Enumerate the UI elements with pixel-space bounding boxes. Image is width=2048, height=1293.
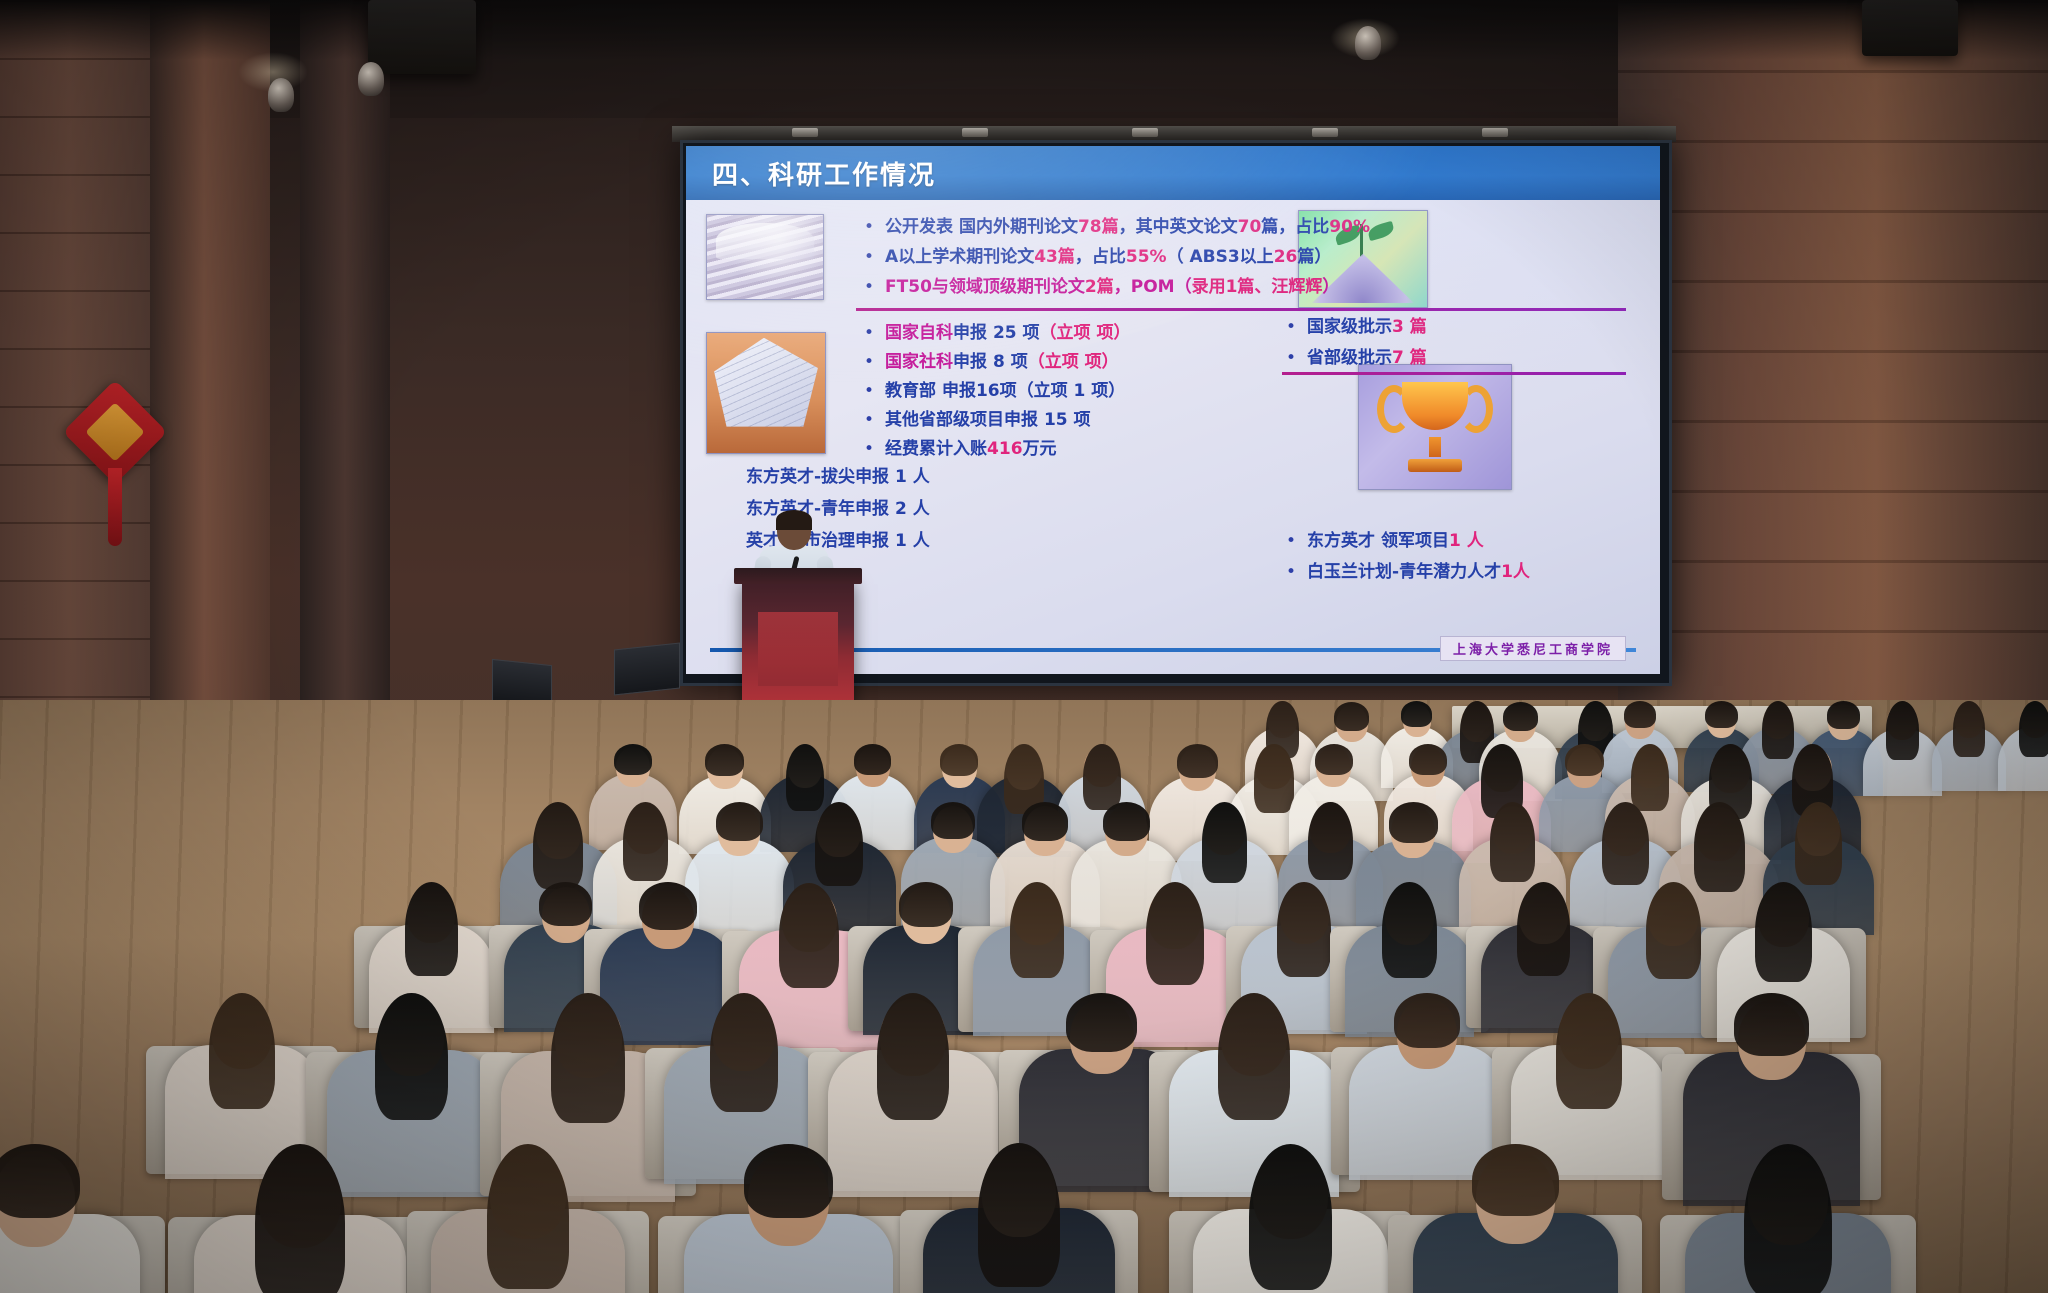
audience-hair bbox=[1401, 701, 1432, 727]
audience-hair bbox=[1795, 802, 1842, 885]
audience-member bbox=[1998, 700, 2048, 799]
bullet-text: 万元 bbox=[1023, 440, 1057, 459]
audience-hair bbox=[1624, 701, 1656, 728]
bullet-text: 东方英才-拔尖 bbox=[746, 468, 855, 487]
open-books-image bbox=[706, 214, 824, 300]
bullet-text: 篇 bbox=[1058, 248, 1075, 267]
trophy-image bbox=[1358, 364, 1512, 490]
audience-hair bbox=[1490, 802, 1535, 882]
audience-hair bbox=[1249, 1144, 1332, 1290]
bullet-dot-icon: • bbox=[864, 382, 874, 401]
audience-hair bbox=[854, 744, 891, 775]
bullet-text: 国家自科 bbox=[885, 324, 953, 343]
audience-hair bbox=[209, 993, 275, 1109]
audience-hair bbox=[539, 882, 592, 926]
bullet-text: 2 bbox=[1085, 278, 1097, 297]
audience-hair bbox=[1389, 802, 1438, 843]
bullet-dot-icon: • bbox=[864, 324, 874, 343]
audience-member bbox=[0, 1140, 140, 1293]
audience-member bbox=[923, 1140, 1115, 1293]
bullet-row: •FT50与领域顶级期刊论文 2 篇，POM（录用1篇、汪辉辉） bbox=[864, 278, 1370, 297]
bullet-text: （立项 项） bbox=[1028, 353, 1119, 372]
rail-clip bbox=[962, 128, 988, 137]
bullet-dot-icon: • bbox=[864, 440, 874, 459]
audience-hair bbox=[899, 882, 953, 927]
bullet-text: ，其中英文论文 bbox=[1119, 218, 1238, 237]
audience-hair bbox=[2019, 701, 2048, 757]
auditorium-scene: 四、科研工作情况 •公开发表 国内外期刊论文 78 篇，其中英文论文 70篇，占… bbox=[0, 0, 2048, 1293]
bullet-text: 申报 25 项 bbox=[953, 324, 1040, 343]
talent-right-bullet-list: •东方英才 领军项目 1 人•白玉兰计划-青年潜力人才 1人 bbox=[1286, 532, 1530, 594]
bullet-dot-icon: • bbox=[864, 278, 874, 297]
bullet-text: 项（立项 1 项） bbox=[1000, 382, 1126, 401]
slide-title-bar: 四、科研工作情况 bbox=[686, 146, 1660, 200]
stacked-papers-image bbox=[706, 332, 826, 454]
audience-hair bbox=[940, 744, 979, 776]
spotlight-1 bbox=[358, 62, 384, 96]
bullet-text: 26 bbox=[1274, 248, 1298, 267]
presenter-hair bbox=[776, 510, 812, 530]
wall-column-2 bbox=[300, 0, 390, 780]
bullet-text: 90% bbox=[1329, 218, 1370, 237]
bullet-text: 申报 1 人 bbox=[855, 532, 930, 551]
audience-hair bbox=[375, 993, 447, 1120]
bullet-text: 篇 bbox=[1097, 278, 1114, 297]
bullet-row: •公开发表 国内外期刊论文 78 篇，其中英文论文 70篇，占比 90% bbox=[864, 218, 1370, 237]
audience-hair bbox=[639, 882, 697, 930]
bullet-text: 东方英才 领军项目 bbox=[1307, 532, 1449, 551]
podium-front-panel bbox=[758, 612, 838, 686]
bullet-text: 篇，占比 bbox=[1261, 218, 1329, 237]
audience-hair bbox=[1734, 993, 1809, 1055]
audience-member bbox=[1685, 1140, 1891, 1293]
audience-hair bbox=[716, 802, 763, 841]
audience-hair bbox=[1277, 882, 1331, 976]
audience-hair bbox=[487, 1144, 570, 1290]
audience-hair bbox=[0, 1144, 80, 1218]
audience-hair bbox=[1705, 701, 1737, 728]
bullet-text: （立项 项） bbox=[1040, 324, 1131, 343]
bullet-row: •教育部 申报 16 项（立项 1 项） bbox=[864, 382, 1130, 401]
ceiling-speaker-right bbox=[1862, 0, 1958, 56]
bullet-dot-icon: • bbox=[1286, 532, 1296, 551]
audience-hair bbox=[1694, 802, 1745, 891]
audience-hair bbox=[1886, 701, 1919, 760]
audience-hair bbox=[1827, 701, 1861, 729]
bullet-text: （ ABS3以上 bbox=[1167, 248, 1274, 267]
audience-hair bbox=[779, 883, 839, 988]
bullet-text: FT50与领域顶级期刊论文 bbox=[885, 278, 1085, 297]
bullet-dot-icon: • bbox=[1286, 563, 1296, 582]
audience-hair bbox=[1066, 993, 1136, 1052]
audience-hair bbox=[551, 993, 625, 1123]
bullet-text: 1人 bbox=[1501, 563, 1530, 582]
rail-clip bbox=[792, 128, 818, 137]
knot-core bbox=[85, 402, 144, 461]
audience-hair bbox=[1218, 993, 1290, 1120]
bullet-text: 78 bbox=[1078, 218, 1102, 237]
bullet-text: 篇） bbox=[1297, 248, 1331, 267]
bullet-text: ，POM（ bbox=[1114, 278, 1192, 297]
bullet-text: 省部级批示 bbox=[1307, 349, 1392, 368]
audience-hair bbox=[1382, 882, 1437, 978]
rail-clip bbox=[1132, 128, 1158, 137]
bullet-row: 东方英才-拔尖 申报 1 人 bbox=[746, 468, 930, 487]
section-divider-1 bbox=[856, 308, 1626, 311]
audience-hair bbox=[1010, 882, 1064, 978]
bullet-row: •国家级批示 3 篇 bbox=[1286, 318, 1427, 337]
bullet-text: 70 bbox=[1238, 218, 1262, 237]
ceiling-speaker-left bbox=[368, 0, 476, 74]
audience-hair bbox=[1472, 1144, 1559, 1217]
audience-hair bbox=[1503, 702, 1538, 731]
audience-hair bbox=[614, 744, 652, 775]
audience-hair bbox=[1755, 882, 1811, 981]
bullet-dot-icon: • bbox=[864, 411, 874, 430]
bullet-text: ，占比 bbox=[1075, 248, 1126, 267]
publications-bullet-list: •公开发表 国内外期刊论文 78 篇，其中英文论文 70篇，占比 90%•A以上… bbox=[864, 218, 1370, 308]
audience-hair bbox=[1103, 802, 1150, 841]
audience-hair bbox=[1646, 882, 1701, 979]
rail-clip bbox=[1482, 128, 1508, 137]
audience-hair bbox=[405, 882, 458, 976]
audience-member bbox=[1193, 1140, 1389, 1293]
audience-member bbox=[194, 1140, 406, 1293]
bullet-dot-icon: • bbox=[1286, 318, 1296, 337]
audience-hair bbox=[1334, 702, 1369, 731]
left-wall-panel bbox=[0, 0, 175, 760]
bullet-text: 申报 2 人 bbox=[855, 500, 930, 519]
bullet-row: •A以上学术期刊论文 43 篇，占比 55%（ ABS3以上 26篇） bbox=[864, 248, 1370, 267]
audience-hair bbox=[1177, 744, 1218, 778]
bullet-row: •国家社科 申报 8 项 （立项 项） bbox=[864, 353, 1130, 372]
audience-hair bbox=[705, 744, 744, 777]
audience-hair bbox=[877, 993, 949, 1120]
slide-title: 四、科研工作情况 bbox=[712, 155, 936, 192]
bullet-row: •其他省部级项目申报 15 项 bbox=[864, 411, 1130, 430]
organization-badge: 上海大学悉尼工商学院 bbox=[1440, 636, 1626, 661]
audience-member bbox=[431, 1140, 626, 1293]
audience-hair bbox=[978, 1143, 1059, 1286]
audience-hair bbox=[1409, 744, 1447, 775]
bullet-text: 其他省部级项目申报 15 项 bbox=[885, 411, 1091, 430]
sprout-leaf-right bbox=[1366, 221, 1395, 241]
audience-hair bbox=[533, 802, 583, 889]
spotlight-3 bbox=[1355, 26, 1381, 60]
audience-hair bbox=[1556, 993, 1622, 1109]
bullet-text: 经费累计入账 bbox=[885, 440, 987, 459]
audience-member bbox=[1863, 700, 1941, 803]
bullet-text: A以上学术期刊论文 bbox=[885, 248, 1034, 267]
bullet-text: 国家级批示 bbox=[1307, 318, 1392, 337]
stage-monitor-right bbox=[614, 643, 680, 696]
section-divider-2 bbox=[1282, 372, 1626, 375]
rail-clip bbox=[1312, 128, 1338, 137]
bullet-text: 3 篇 bbox=[1392, 318, 1427, 337]
bullet-text: 白玉兰计划-青年潜力人才 bbox=[1307, 563, 1501, 582]
podium-top bbox=[734, 568, 862, 584]
audience-hair bbox=[1744, 1144, 1832, 1293]
ceiling-shadow bbox=[0, 0, 2048, 60]
audience-hair bbox=[710, 993, 778, 1112]
bullet-text: 7 篇 bbox=[1392, 349, 1427, 368]
audience-hair bbox=[931, 802, 975, 839]
audience-member bbox=[1413, 1140, 1618, 1293]
audience-hair bbox=[1394, 993, 1460, 1048]
bullet-dot-icon: • bbox=[864, 218, 874, 237]
trophy-base bbox=[1408, 459, 1462, 472]
bullet-dot-icon: • bbox=[1286, 349, 1296, 368]
bullet-text: ） bbox=[1322, 278, 1339, 297]
bullet-text: 公开发表 国内外期刊论文 bbox=[885, 218, 1078, 237]
audience-hair bbox=[1565, 744, 1604, 776]
bullet-text: 录用1篇、汪辉辉 bbox=[1192, 278, 1323, 297]
audience-member bbox=[1932, 700, 2006, 798]
bullet-row: •东方英才 领军项目 1 人 bbox=[1286, 532, 1530, 551]
bullet-text: 1 人 bbox=[1449, 532, 1484, 551]
bullet-text: 416 bbox=[987, 440, 1023, 459]
bullet-row: •省部级批示 7 篇 bbox=[1286, 349, 1427, 368]
bullet-dot-icon: • bbox=[864, 248, 874, 267]
bullet-row: •白玉兰计划-青年潜力人才 1人 bbox=[1286, 563, 1530, 582]
audience-hair bbox=[1308, 802, 1353, 880]
podium bbox=[742, 578, 854, 710]
audience-hair bbox=[1202, 802, 1248, 883]
trophy-cup bbox=[1402, 382, 1468, 430]
knot-tassel bbox=[108, 468, 122, 546]
audience-hair bbox=[623, 802, 668, 881]
audience-hair bbox=[1953, 701, 1985, 757]
bullet-row: •经费累计入账 416 万元 bbox=[864, 440, 1130, 459]
audience-hair bbox=[744, 1144, 833, 1218]
bullet-text: 国家社科 bbox=[885, 353, 953, 372]
spotlight-2 bbox=[268, 78, 294, 112]
bullet-text: 篇 bbox=[1102, 218, 1119, 237]
bullet-text: 16 bbox=[976, 382, 1000, 401]
bullet-text: 申报 8 项 bbox=[953, 353, 1028, 372]
bullet-dot-icon: • bbox=[864, 353, 874, 372]
wall-column-1 bbox=[150, 0, 270, 780]
bullet-text: 55% bbox=[1126, 248, 1167, 267]
audience-hair bbox=[255, 1144, 345, 1293]
audience-member bbox=[684, 1140, 893, 1293]
bullet-text: 43 bbox=[1034, 248, 1058, 267]
bullet-text: 申报 1 人 bbox=[855, 468, 930, 487]
audience-hair bbox=[815, 802, 863, 886]
audience-hair bbox=[1315, 744, 1353, 776]
projects-bullet-list: •国家自科 申报 25 项 （立项 项）•国家社科 申报 8 项 （立项 项）•… bbox=[864, 324, 1130, 469]
trophy-stem bbox=[1429, 437, 1441, 457]
right-wall-panel bbox=[1618, 0, 2048, 800]
bullet-row: •国家自科 申报 25 项 （立项 项） bbox=[864, 324, 1130, 343]
audience-hair bbox=[1146, 882, 1204, 984]
audience-hair bbox=[1602, 802, 1649, 885]
bullet-text: 教育部 申报 bbox=[885, 382, 976, 401]
directives-bullet-list: •国家级批示 3 篇•省部级批示 7 篇 bbox=[1286, 318, 1427, 380]
audience-hair bbox=[1517, 882, 1570, 976]
audience-hair bbox=[1022, 802, 1069, 841]
